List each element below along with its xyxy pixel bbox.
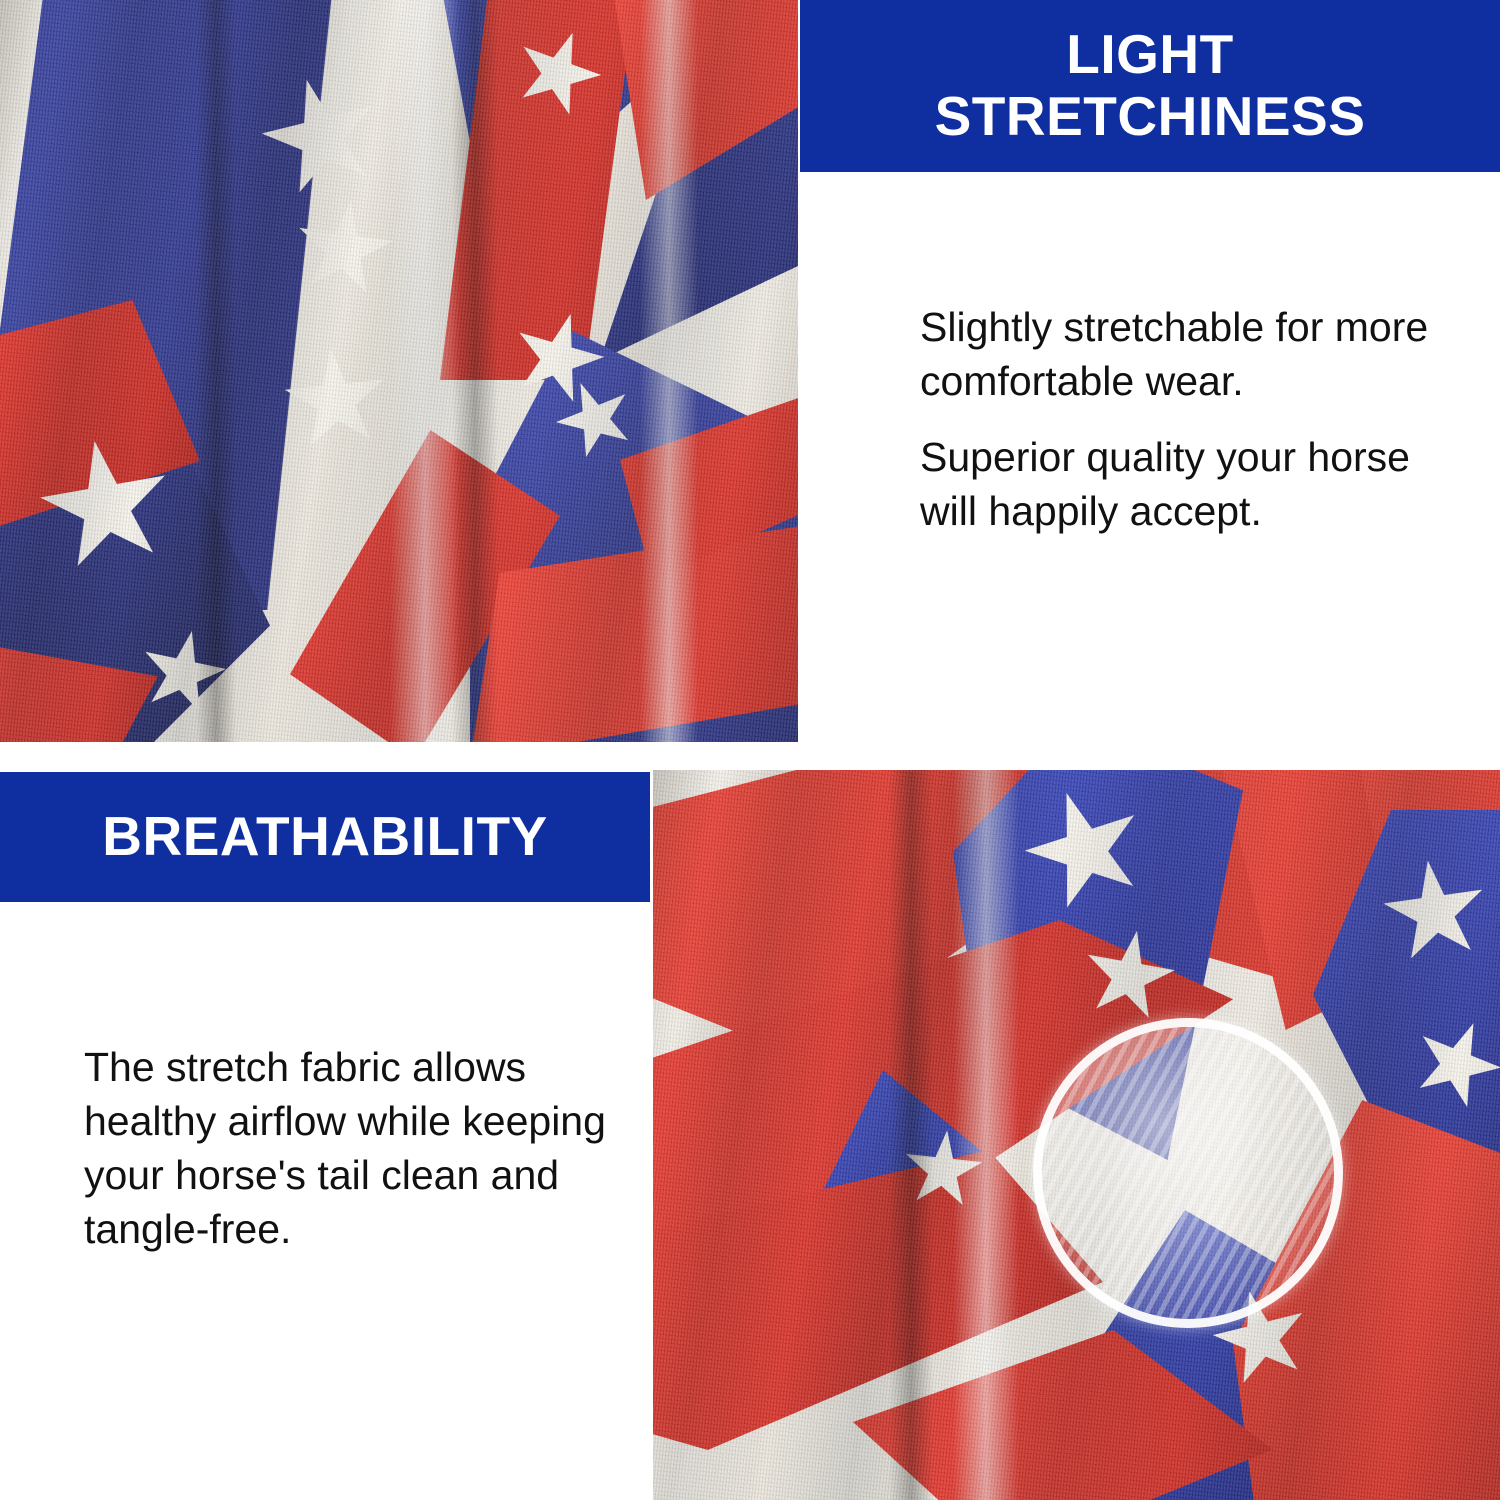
product-infographic: LIGHT STRETCHINESS Slightly stretchable …: [0, 0, 1500, 1500]
banner-light-stretchiness: LIGHT STRETCHINESS: [800, 0, 1500, 172]
photo-light-stretchiness: [0, 0, 798, 742]
banner-breathability: BREATHABILITY: [0, 772, 650, 902]
banner-light-stretchiness-line2: STRETCHINESS: [935, 86, 1366, 148]
description-breathability: The stretch fabric allows healthy airflo…: [84, 1040, 614, 1256]
description-paragraph: The stretch fabric allows healthy airflo…: [84, 1040, 614, 1256]
description-paragraph: Slightly stretchable for more comfortabl…: [920, 300, 1460, 408]
banner-breathability-line1: BREATHABILITY: [102, 806, 547, 868]
photo-breathability: [653, 770, 1500, 1500]
description-paragraph: Superior quality your horse will happily…: [920, 430, 1460, 538]
banner-light-stretchiness-line1: LIGHT: [1066, 24, 1233, 86]
description-light-stretchiness: Slightly stretchable for more comfortabl…: [920, 300, 1460, 538]
